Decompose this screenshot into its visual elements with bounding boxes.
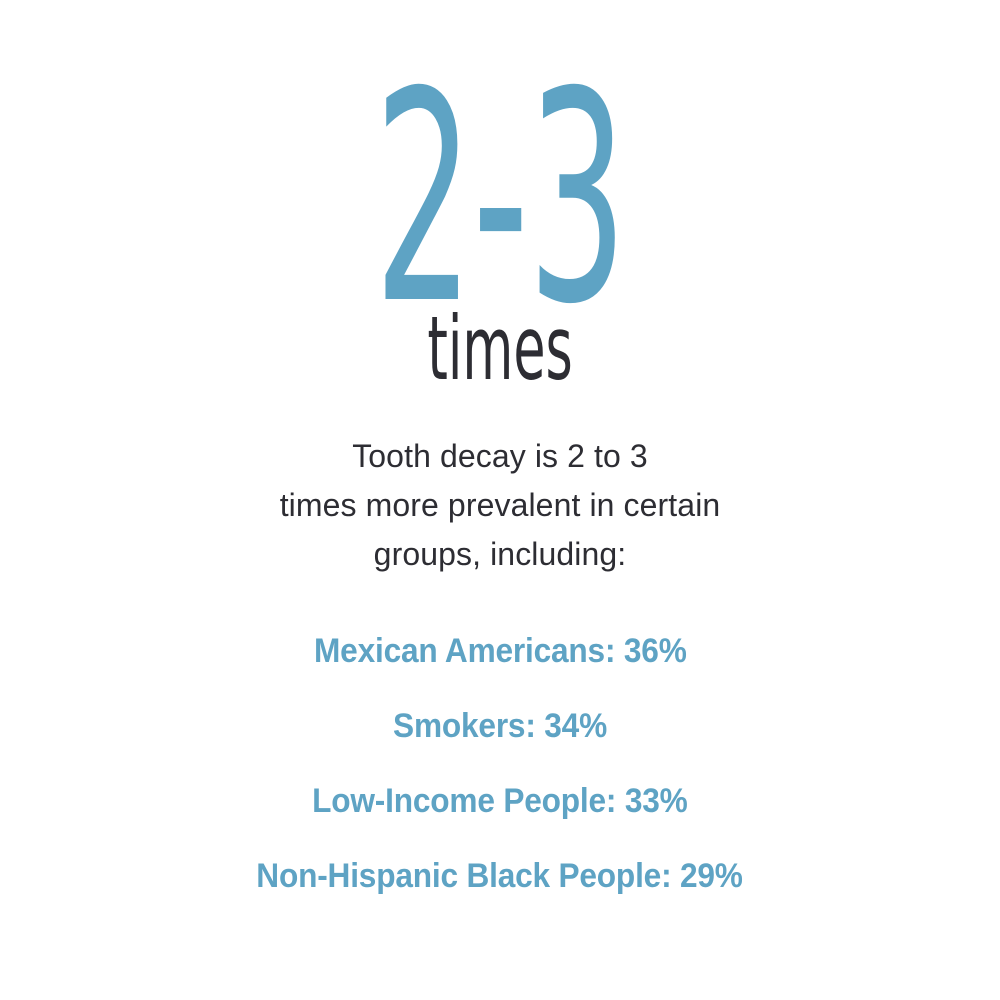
stat-item: Mexican Americans: 36% <box>300 613 701 688</box>
description-line-3: groups, including: <box>200 530 800 579</box>
stat-item-label: Low-Income People: 33% <box>312 784 687 818</box>
headline-stat: 2-3 <box>290 84 710 316</box>
infographic-card: 2-3 times Tooth decay is 2 to 3 times mo… <box>0 0 1000 1000</box>
description-line-1: Tooth decay is 2 to 3 <box>200 432 800 481</box>
stat-item: Non-Hispanic Black People: 29% <box>238 838 761 913</box>
description-line-2: times more prevalent in certain <box>200 481 800 530</box>
stat-item-label: Non-Hispanic Black People: 29% <box>257 859 743 893</box>
stat-item-label: Smokers: 34% <box>393 709 607 743</box>
headline-stat-value: 2-3 <box>374 93 626 308</box>
stat-list: Mexican Americans: 36% Smokers: 34% Low-… <box>50 613 950 913</box>
description-paragraph: Tooth decay is 2 to 3 times more prevale… <box>200 432 800 579</box>
stat-item: Low-Income People: 33% <box>298 763 702 838</box>
headline-unit-label: times <box>427 305 572 393</box>
stat-item-label: Mexican Americans: 36% <box>314 634 687 668</box>
stat-item: Smokers: 34% <box>385 688 615 763</box>
